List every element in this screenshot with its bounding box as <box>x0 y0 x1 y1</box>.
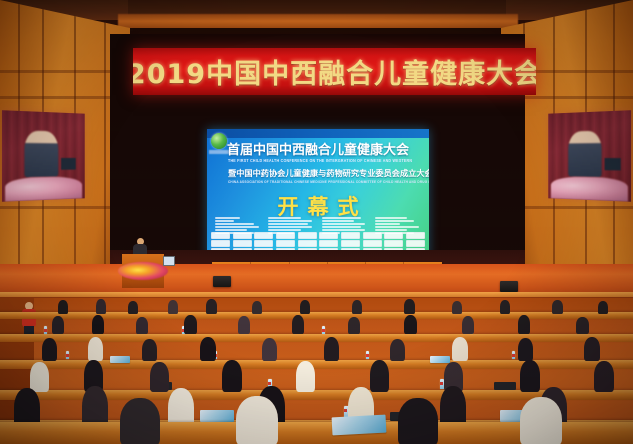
attendee-foreground <box>236 396 278 444</box>
main-projection-screen: 首届中国中西融合儿童健康大会 THE FIRST CHILD HEALTH CO… <box>207 129 429 258</box>
attendee <box>92 315 104 334</box>
attendee <box>150 362 169 392</box>
sponsor-row <box>211 232 425 239</box>
side-screen-laptop <box>61 158 75 170</box>
attendee <box>292 315 304 334</box>
attendee <box>452 301 462 314</box>
side-screen-flowers <box>551 176 627 201</box>
podium-flower-arrangement <box>118 262 168 280</box>
attendee <box>296 361 315 392</box>
attendee <box>324 337 339 361</box>
screen-title-cn: 首届中国中西融合儿童健康大会 <box>227 139 427 158</box>
attendee <box>404 315 417 334</box>
attendee <box>520 360 540 392</box>
attendee <box>252 301 262 314</box>
attendee <box>58 300 68 314</box>
main-banner: 2019中国中西融合儿童健康大会 <box>133 48 536 95</box>
screen-subtitle-cn: 暨中国中药协会儿童健康与药物研究专业委员会成立大会 <box>228 167 428 179</box>
attendee <box>42 338 57 361</box>
attendee <box>142 339 157 361</box>
attendee <box>576 317 589 334</box>
attendee <box>30 362 49 392</box>
attendee <box>348 317 360 334</box>
screen-title-en: THE FIRST CHILD HEALTH CONFERENCE ON THE… <box>228 158 428 163</box>
association-logo-icon <box>211 133 227 149</box>
attendee <box>518 338 533 361</box>
attendee <box>200 337 216 361</box>
attendee <box>184 315 197 334</box>
attendee-foreground <box>520 397 562 444</box>
attendee <box>452 337 468 361</box>
side-screen-speaker <box>25 131 58 178</box>
sponsor-row <box>211 240 425 247</box>
attendee <box>96 299 106 314</box>
side-screen-laptop <box>605 158 621 171</box>
audience-area <box>0 298 633 444</box>
side-screen-right <box>548 110 631 202</box>
attendee <box>52 316 64 334</box>
attendee <box>598 301 608 314</box>
attendee <box>370 360 389 392</box>
attendee <box>352 300 362 314</box>
attendee <box>88 337 103 361</box>
attendee <box>300 300 310 314</box>
side-screen-speaker <box>569 131 602 177</box>
attendee <box>404 299 415 314</box>
stage-monitor-speaker-right <box>500 281 518 292</box>
attendee <box>594 361 614 392</box>
attendee <box>168 300 178 314</box>
stage-monitor-speaker-left <box>213 276 231 287</box>
attendee <box>552 300 563 314</box>
attendee <box>206 299 217 314</box>
attendee <box>584 337 600 361</box>
banner-title: 2019中国中西融合儿童健康大会 <box>133 52 536 91</box>
attendee <box>128 301 138 314</box>
screen-subtitle-en: CHINA ASSOCIATION OF TRADITIONAL CHINESE… <box>228 179 428 184</box>
conference-photo: 2019中国中西融合儿童健康大会 首届中国中西融合儿童健康大会 THE FIRS… <box>0 0 633 444</box>
attendee <box>238 316 250 334</box>
podium-monitor-screen <box>163 256 175 266</box>
attendee <box>136 317 148 334</box>
side-screen-left <box>2 110 85 202</box>
attendee <box>390 339 405 361</box>
screen-top-band <box>207 129 429 138</box>
attendee <box>262 338 277 361</box>
attendee-foreground <box>398 398 438 444</box>
attendee <box>462 316 474 334</box>
attendee <box>222 360 242 392</box>
attendee-foreground <box>120 398 160 444</box>
attendee <box>500 300 510 314</box>
attendee <box>518 315 530 334</box>
side-screen-flowers <box>6 176 82 201</box>
